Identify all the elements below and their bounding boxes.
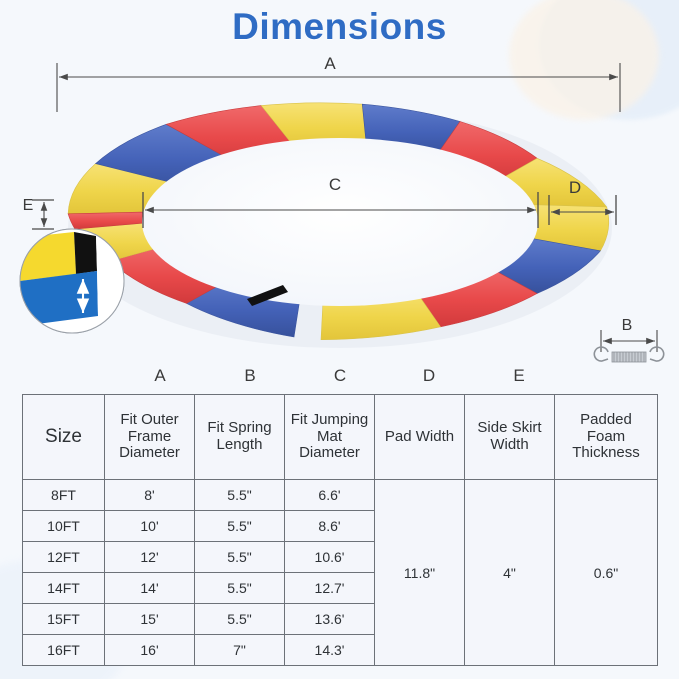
- dimensions-infographic: Dimensions: [0, 0, 679, 679]
- cell-spring: 5.5": [195, 573, 285, 604]
- cell-size: 10FT: [23, 511, 105, 542]
- trampoline-pad-ring: [68, 103, 612, 348]
- header-line: Diameter: [288, 445, 371, 462]
- header-line: Padded: [558, 412, 654, 429]
- dimension-label-e: E: [17, 197, 39, 215]
- cross-section-inset: [18, 229, 124, 333]
- dimension-label-b: B: [612, 317, 642, 335]
- cell-spring: 5.5": [195, 542, 285, 573]
- cell-spring: 5.5": [195, 511, 285, 542]
- cell-size: 14FT: [23, 573, 105, 604]
- specification-table: Size Fit Outer Frame Diameter Fit Spring…: [22, 394, 658, 666]
- header-line: Diameter: [108, 445, 191, 462]
- cell-mat: 13.6': [285, 604, 375, 635]
- cell-frame: 15': [105, 604, 195, 635]
- cell-mat: 14.3': [285, 635, 375, 666]
- column-letter-d: D: [414, 366, 444, 386]
- cell-frame: 12': [105, 542, 195, 573]
- cell-frame: 14': [105, 573, 195, 604]
- header-jumping-mat-diameter: Fit Jumping Mat Diameter: [285, 395, 375, 480]
- header-size: Size: [23, 395, 105, 480]
- cell-size: 8FT: [23, 480, 105, 511]
- cell-spring: 7": [195, 635, 285, 666]
- cell-spring: 5.5": [195, 480, 285, 511]
- cell-frame: 16': [105, 635, 195, 666]
- header-line: Side Skirt: [468, 420, 551, 437]
- table-row: 8FT 8' 5.5" 6.6' 11.8" 4" 0.6": [23, 480, 658, 511]
- header-line: Fit Jumping: [288, 412, 371, 429]
- header-side-skirt-width: Side Skirt Width: [465, 395, 555, 480]
- dimension-label-c: C: [315, 175, 355, 195]
- product-illustration: A C D E B: [0, 0, 679, 392]
- cell-pad-width-merged: 11.8": [375, 480, 465, 666]
- dimension-label-a: A: [310, 54, 350, 74]
- cell-frame: 8': [105, 480, 195, 511]
- header-line: Fit Outer: [108, 412, 191, 429]
- header-line: Mat: [288, 429, 371, 446]
- cell-size: 12FT: [23, 542, 105, 573]
- column-letter-e: E: [504, 366, 534, 386]
- header-spring-length: Fit Spring Length: [195, 395, 285, 480]
- table-header-row: Size Fit Outer Frame Diameter Fit Spring…: [23, 395, 658, 480]
- column-letter-b: B: [235, 366, 265, 386]
- column-letter-a: A: [145, 366, 175, 386]
- header-line: Fit Spring: [198, 420, 281, 437]
- pad-inner-opening: [142, 138, 538, 306]
- column-letter-c: C: [325, 366, 355, 386]
- dimension-label-d: D: [555, 178, 595, 198]
- cell-frame: 10': [105, 511, 195, 542]
- cell-mat: 12.7': [285, 573, 375, 604]
- cell-mat: 6.6': [285, 480, 375, 511]
- column-letter-strip: A B C D E: [22, 366, 657, 392]
- cell-spring: 5.5": [195, 604, 285, 635]
- cell-size: 15FT: [23, 604, 105, 635]
- cell-size: 16FT: [23, 635, 105, 666]
- header-line: Frame: [108, 429, 191, 446]
- cell-padded-foam-thickness-merged: 0.6": [555, 480, 658, 666]
- header-pad-width: Pad Width: [375, 395, 465, 480]
- header-outer-frame-diameter: Fit Outer Frame Diameter: [105, 395, 195, 480]
- header-padded-foam-thickness: Padded Foam Thickness: [555, 395, 658, 480]
- header-line: Thickness: [558, 445, 654, 462]
- header-line: Length: [198, 437, 281, 454]
- cell-mat: 8.6': [285, 511, 375, 542]
- header-line: Foam: [558, 429, 654, 446]
- cell-side-skirt-width-merged: 4": [465, 480, 555, 666]
- inset-strap: [74, 232, 97, 274]
- cell-mat: 10.6': [285, 542, 375, 573]
- header-line: Width: [468, 437, 551, 454]
